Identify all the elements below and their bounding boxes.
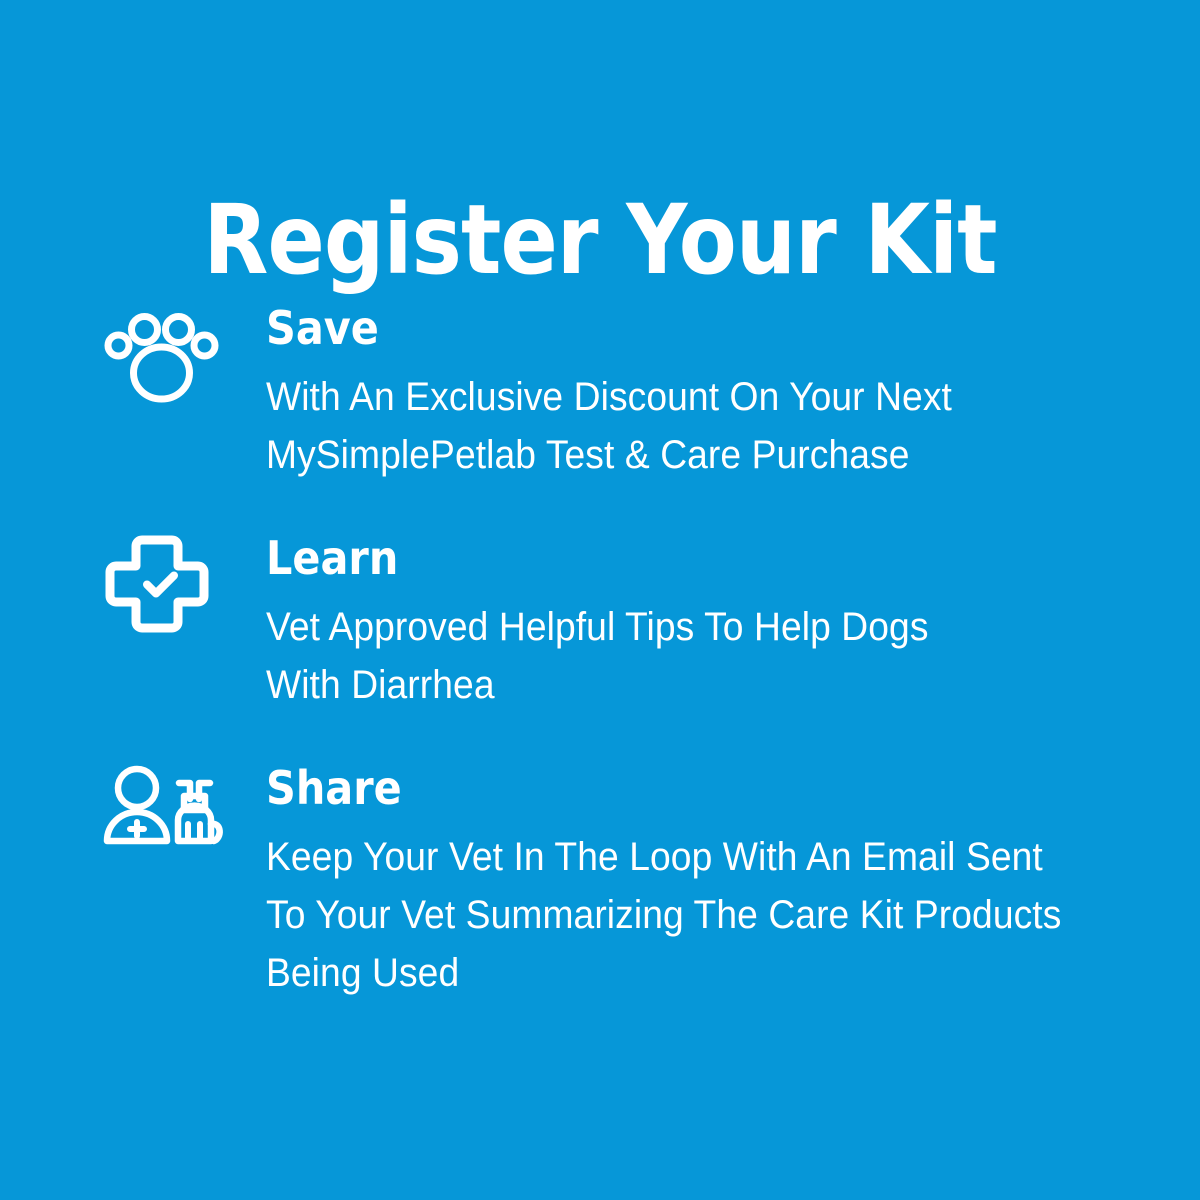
feature-body-line: Keep Your Vet In The Loop With An Email … <box>266 828 1103 886</box>
feature-body-line: With An Exclusive Discount On Your Next <box>266 368 1103 426</box>
feature-heading-share: Share <box>266 762 1107 814</box>
feature-text-learn: Learn Vet Approved Helpful Tips To Help … <box>220 530 1200 714</box>
feature-body-line: Vet Approved Helpful Tips To Help Dogs <box>266 598 1103 656</box>
paw-print-icon <box>104 304 220 404</box>
feature-heading-learn: Learn <box>266 532 1107 584</box>
feature-body-line: To Your Vet Summarizing The Care Kit Pro… <box>266 886 1103 944</box>
feature-body-learn: Vet Approved Helpful Tips To Help Dogs W… <box>266 598 1103 714</box>
feature-body-save: With An Exclusive Discount On Your Next … <box>266 368 1103 484</box>
feature-body-line: Being Used <box>266 944 1103 1002</box>
feature-list: Save With An Exclusive Discount On Your … <box>0 300 1200 1002</box>
feature-text-save: Save With An Exclusive Discount On Your … <box>220 300 1200 484</box>
register-kit-poster: Register Your Kit Save With An Exclusive… <box>0 0 1200 1200</box>
feature-body-line: MySimplePetlab Test & Care Purchase <box>266 426 1103 484</box>
feature-text-share: Share Keep Your Vet In The Loop With An … <box>220 760 1200 1002</box>
page-title: Register Your Kit <box>72 188 1128 292</box>
feature-item-share: Share Keep Your Vet In The Loop With An … <box>0 760 1200 1002</box>
feature-body-share: Keep Your Vet In The Loop With An Email … <box>266 828 1103 1002</box>
feature-item-learn: Learn Vet Approved Helpful Tips To Help … <box>0 530 1200 714</box>
vet-and-dog-icon <box>104 764 220 864</box>
feature-body-line: With Diarrhea <box>266 656 1103 714</box>
medical-cross-check-icon <box>104 534 220 634</box>
feature-heading-save: Save <box>266 302 1107 354</box>
feature-item-save: Save With An Exclusive Discount On Your … <box>0 300 1200 484</box>
